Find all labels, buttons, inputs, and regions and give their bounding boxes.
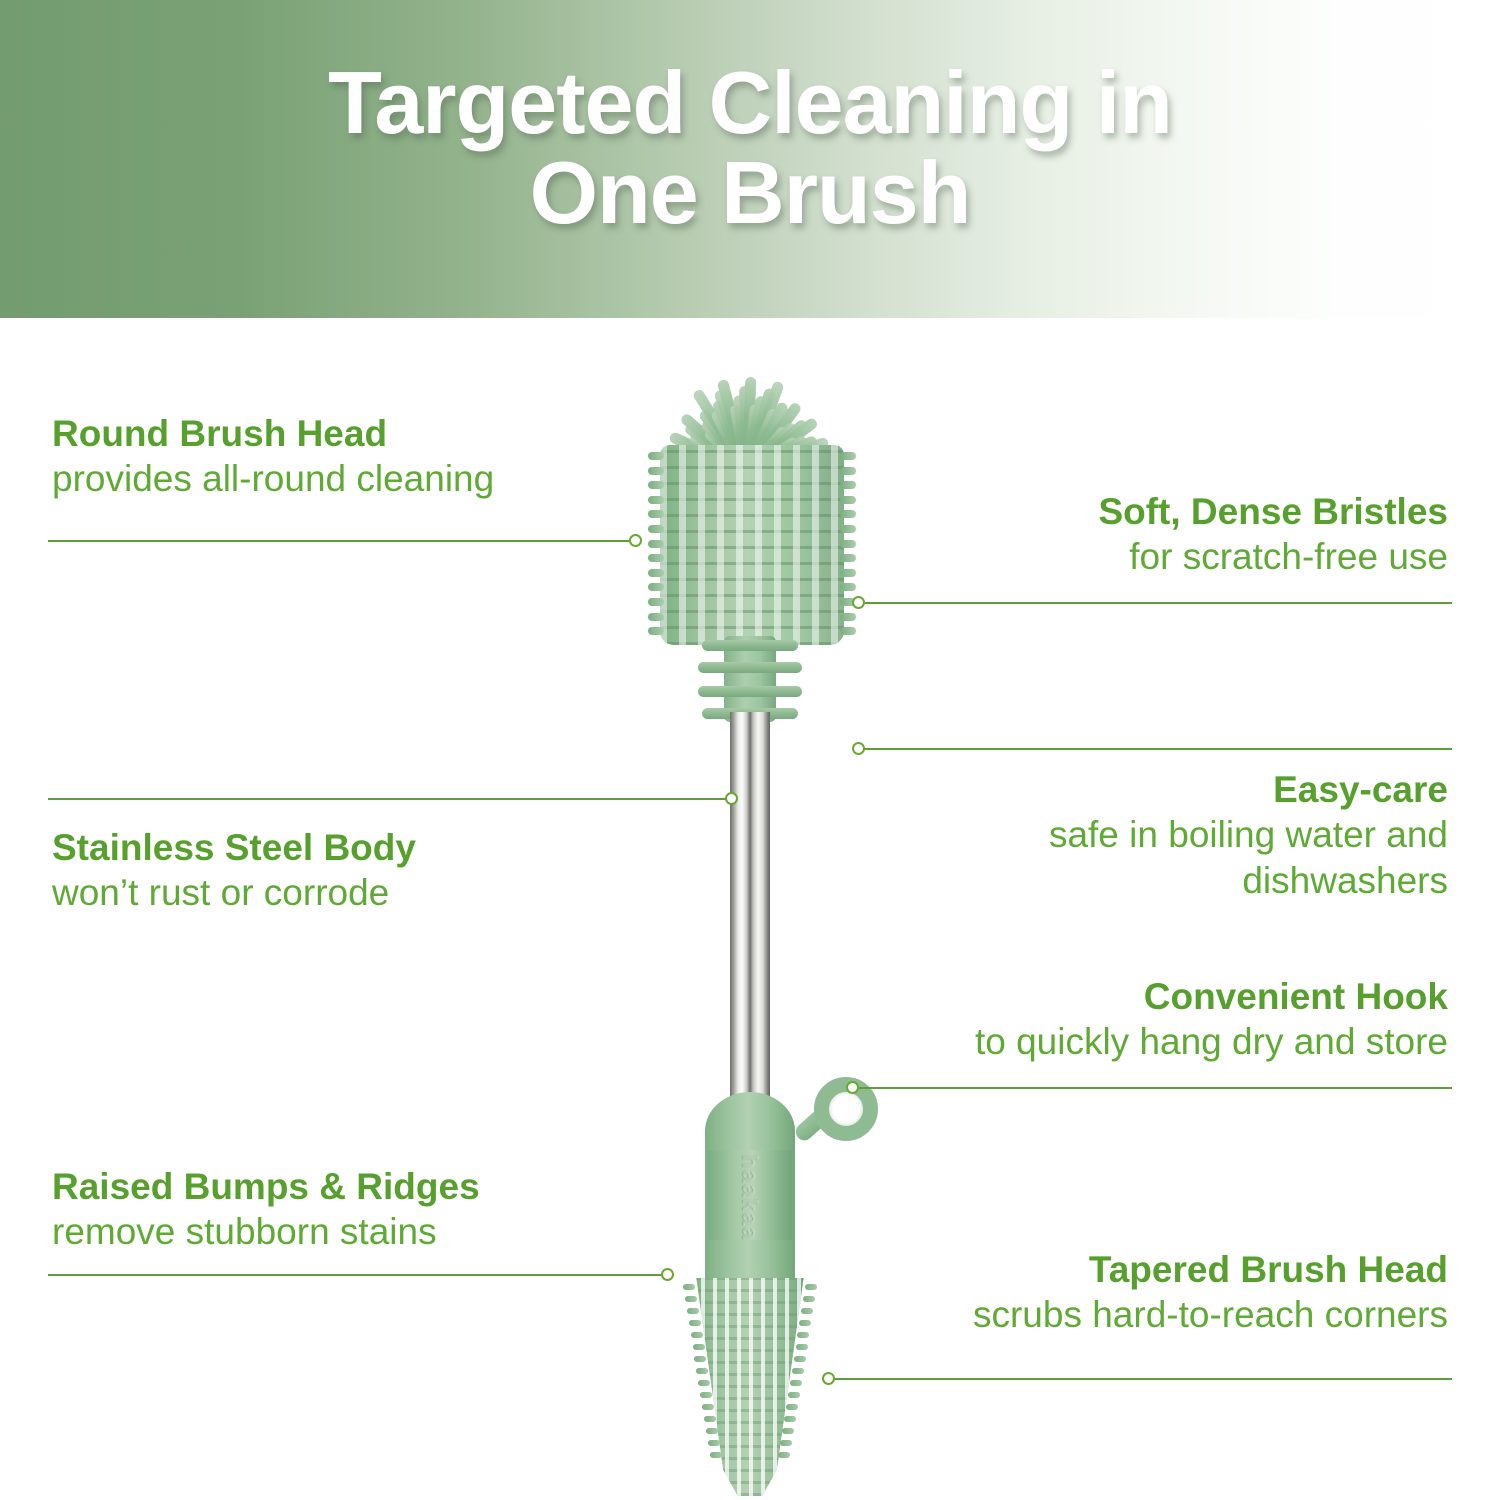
bristle [704, 1416, 716, 1422]
feature-subtitle: for scratch-free use [748, 534, 1448, 581]
bristle [648, 598, 664, 606]
bristle [648, 554, 664, 562]
bristle [786, 1404, 798, 1410]
feature-subtitle: safe in boiling water and dishwashers [748, 812, 1448, 905]
leader-raised-bumps-ridges [48, 1268, 676, 1282]
bristle [784, 1416, 796, 1422]
bristle [794, 1356, 806, 1362]
bristle [698, 1380, 710, 1386]
bristle [840, 481, 856, 489]
bristle [788, 1392, 800, 1398]
leader-soft-dense-bristles [852, 596, 1452, 610]
bristle [648, 540, 664, 548]
leader-round-brush-head [48, 534, 644, 548]
bristle [687, 1308, 699, 1314]
feature-title: Stainless Steel Body [52, 826, 672, 870]
leader-tapered-brush-head [822, 1372, 1452, 1386]
bristle [648, 613, 664, 621]
bristle [840, 467, 856, 475]
page-title: Targeted Cleaning in One Brush [0, 58, 1500, 238]
bristle [683, 1284, 695, 1290]
bristle [790, 1380, 802, 1386]
feature-raised-bumps-ridges: Raised Bumps & Ridges remove stubborn st… [52, 1165, 692, 1255]
leader-stainless-steel-body [48, 792, 740, 806]
collar-disc [698, 662, 802, 673]
bristle [840, 613, 856, 621]
bristle [694, 1356, 706, 1362]
leader-easy-care [852, 742, 1452, 756]
feature-subtitle: remove stubborn stains [52, 1209, 692, 1256]
bristle [782, 1428, 794, 1434]
feature-tapered-brush-head: Tapered Brush Head scrubs hard-to-reach … [728, 1248, 1448, 1338]
bristle [648, 569, 664, 577]
feature-subtitle: scrubs hard-to-reach corners [728, 1292, 1448, 1339]
feature-title: Raised Bumps & Ridges [52, 1165, 692, 1209]
bristle [710, 1452, 722, 1458]
bristle [708, 1440, 720, 1446]
feature-subtitle: won’t rust or corrode [52, 870, 672, 917]
collar-disc [698, 686, 802, 697]
bristle [648, 510, 664, 518]
feature-subtitle: to quickly hang dry and store [748, 1019, 1448, 1066]
bristle [796, 1344, 808, 1350]
feature-soft-dense-bristles: Soft, Dense Bristles for scratch-free us… [748, 490, 1448, 580]
bristle [648, 627, 664, 635]
bristle [648, 525, 664, 533]
feature-title: Round Brush Head [52, 412, 652, 456]
leader-convenient-hook [846, 1081, 1452, 1095]
feature-title: Easy-care [748, 768, 1448, 812]
bristle [702, 1404, 714, 1410]
bristle [840, 583, 856, 591]
bristle [778, 1452, 790, 1458]
bristle [696, 1368, 708, 1374]
feature-easy-care: Easy-care safe in boiling water and dish… [748, 768, 1448, 905]
bristle [792, 1368, 804, 1374]
bristle [780, 1440, 792, 1446]
header-banner: Targeted Cleaning in One Brush [0, 0, 1500, 318]
feature-subtitle: provides all-round cleaning [52, 456, 652, 503]
feature-convenient-hook: Convenient Hook to quickly hang dry and … [748, 975, 1448, 1065]
feature-stainless-steel-body: Stainless Steel Body won’t rust or corro… [52, 826, 672, 916]
bristle [691, 1332, 703, 1338]
bristle [700, 1392, 712, 1398]
brand-emboss: haakaa [737, 1155, 763, 1242]
feature-round-brush-head: Round Brush Head provides all-round clea… [52, 412, 652, 502]
collar-disc [702, 640, 798, 651]
bristle [689, 1320, 701, 1326]
feature-title: Convenient Hook [748, 975, 1448, 1019]
bristle [706, 1428, 718, 1434]
bristle [840, 627, 856, 635]
feature-title: Soft, Dense Bristles [748, 490, 1448, 534]
bristle [693, 1344, 705, 1350]
bristle [840, 452, 856, 460]
bristle [648, 583, 664, 591]
feature-title: Tapered Brush Head [728, 1248, 1448, 1292]
bristle [685, 1296, 697, 1302]
